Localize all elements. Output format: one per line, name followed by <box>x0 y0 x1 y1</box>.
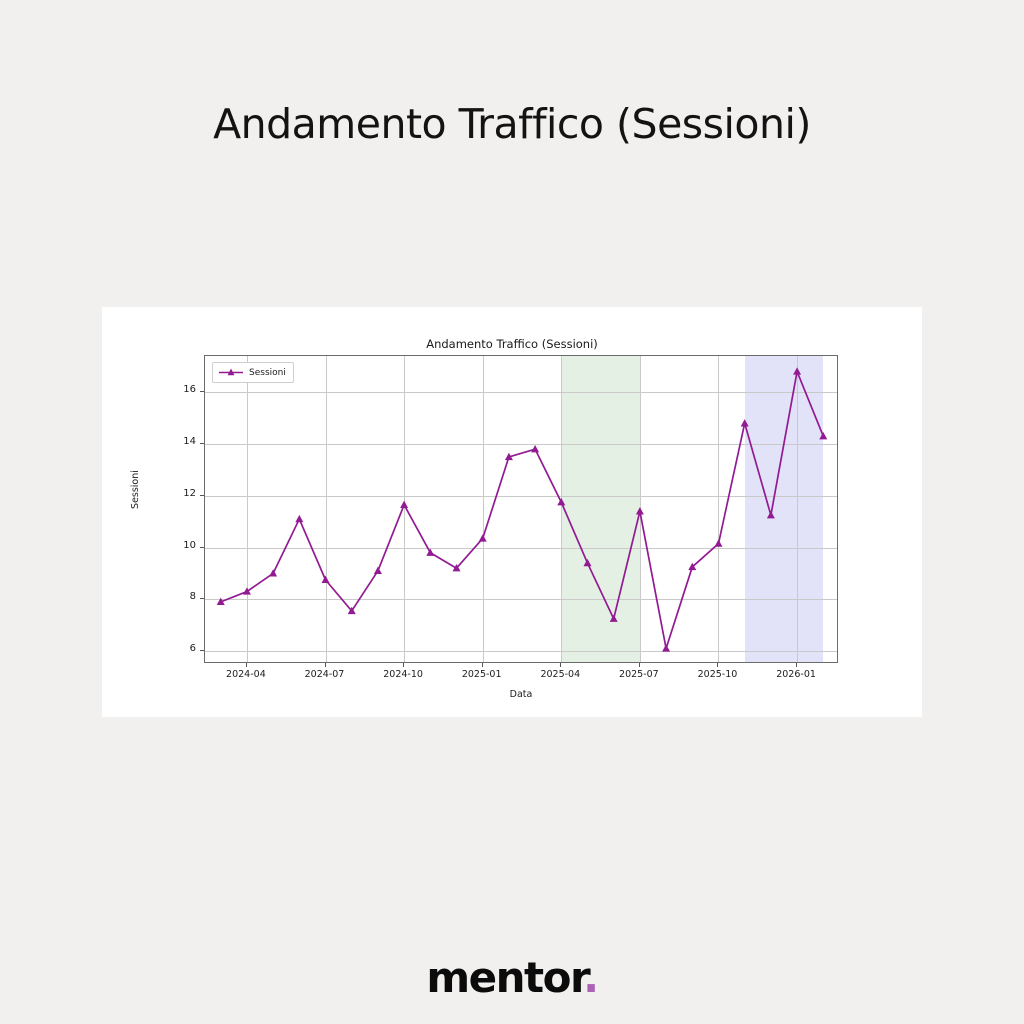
y-tick-mark <box>200 598 204 599</box>
y-tick-label: 16 <box>160 384 196 395</box>
page-title: Andamento Traffico (Sessioni) <box>0 96 1024 152</box>
data-point-marker <box>714 539 722 546</box>
y-tick-mark <box>200 547 204 548</box>
x-tick-label: 2025-01 <box>442 669 522 680</box>
data-point-marker <box>400 501 408 508</box>
data-point-marker <box>243 587 251 594</box>
brand-dot: . <box>583 953 597 1002</box>
plot-area <box>204 355 838 663</box>
y-tick-mark <box>200 495 204 496</box>
x-tick-mark <box>560 663 561 667</box>
x-tick-label: 2024-04 <box>206 669 286 680</box>
chart-title: Andamento Traffico (Sessioni) <box>102 337 922 351</box>
brand-name: mentor <box>426 953 583 1002</box>
y-tick-label: 8 <box>160 591 196 602</box>
chart-legend: Sessioni <box>212 362 294 383</box>
x-tick-mark <box>482 663 483 667</box>
x-tick-mark <box>717 663 718 667</box>
data-point-marker <box>322 576 330 583</box>
y-tick-label: 6 <box>160 643 196 654</box>
data-point-marker <box>531 445 539 452</box>
y-tick-label: 10 <box>160 540 196 551</box>
y-tick-mark <box>200 443 204 444</box>
y-tick-mark <box>200 650 204 651</box>
data-point-marker <box>584 559 592 566</box>
data-point-marker <box>295 515 303 522</box>
x-tick-label: 2024-07 <box>285 669 365 680</box>
x-tick-mark <box>246 663 247 667</box>
x-tick-mark <box>639 663 640 667</box>
x-tick-label: 2026-01 <box>756 669 836 680</box>
y-tick-label: 14 <box>160 436 196 447</box>
y-tick-mark <box>200 391 204 392</box>
x-tick-mark <box>796 663 797 667</box>
chart-card: Andamento Traffico (Sessioni) Sessioni D… <box>102 307 922 717</box>
data-point-marker <box>767 511 775 518</box>
data-point-marker <box>636 507 644 514</box>
series-line-sessioni <box>205 356 838 663</box>
data-point-marker <box>741 419 749 426</box>
x-axis-label: Data <box>204 689 838 700</box>
data-point-marker <box>479 534 487 541</box>
x-tick-label: 2024-10 <box>363 669 443 680</box>
data-point-marker <box>662 644 670 651</box>
series-polyline <box>221 372 824 649</box>
y-axis-label: Sessioni <box>130 470 141 509</box>
legend-line-icon <box>218 367 244 378</box>
x-tick-label: 2025-04 <box>520 669 600 680</box>
data-point-marker <box>793 367 801 374</box>
x-tick-mark <box>325 663 326 667</box>
data-point-marker <box>819 432 827 439</box>
data-point-marker <box>374 567 382 574</box>
x-tick-mark <box>403 663 404 667</box>
data-point-marker <box>557 498 565 505</box>
data-point-marker <box>426 549 434 556</box>
data-point-marker <box>610 615 618 622</box>
footer-brand-logo: mentor. <box>0 952 1024 1004</box>
x-tick-label: 2025-10 <box>677 669 757 680</box>
x-tick-label: 2025-07 <box>599 669 679 680</box>
y-tick-label: 12 <box>160 488 196 499</box>
legend-label-sessioni: Sessioni <box>249 368 286 378</box>
data-point-marker <box>269 569 277 576</box>
